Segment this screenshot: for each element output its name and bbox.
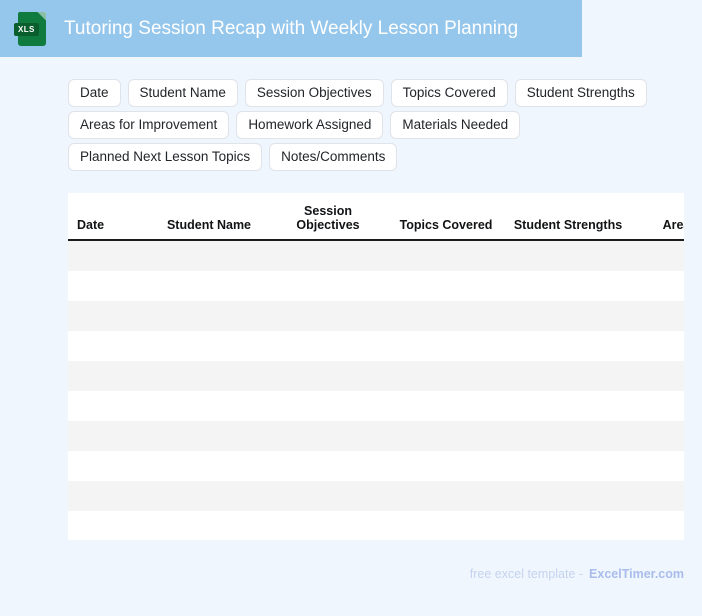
table-cell[interactable] — [68, 421, 152, 451]
table-cell[interactable] — [68, 481, 152, 511]
table-cell[interactable] — [152, 481, 266, 511]
chip-session-objectives[interactable]: Session Objectives — [245, 79, 384, 107]
chip-notes-comments[interactable]: Notes/Comments — [269, 143, 397, 171]
table-cell[interactable] — [68, 511, 152, 540]
table-column-header-topics-covered[interactable]: Topics Covered — [390, 193, 502, 240]
table-row[interactable] — [68, 240, 684, 271]
table-cell[interactable] — [152, 421, 266, 451]
table-cell[interactable] — [266, 391, 390, 421]
spreadsheet-table-container[interactable]: Date Student Name Session Objectives Top… — [68, 193, 684, 540]
table-cell[interactable] — [266, 331, 390, 361]
table-cell[interactable] — [152, 331, 266, 361]
table-row[interactable] — [68, 391, 684, 421]
table-row[interactable] — [68, 271, 684, 301]
table-cell[interactable] — [152, 511, 266, 540]
table-cell[interactable] — [502, 240, 634, 271]
table-cell[interactable] — [634, 421, 684, 451]
table-cell[interactable] — [68, 451, 152, 481]
table-header: Date Student Name Session Objectives Top… — [68, 193, 684, 240]
table-cell[interactable] — [152, 451, 266, 481]
field-chip-area: Date Student Name Session Objectives Top… — [68, 79, 684, 175]
table-cell[interactable] — [152, 240, 266, 271]
table-cell[interactable] — [266, 361, 390, 391]
chip-materials-needed[interactable]: Materials Needed — [390, 111, 520, 139]
footer-brand-link[interactable]: ExcelTimer.com — [589, 567, 684, 581]
chip-topics-covered[interactable]: Topics Covered — [391, 79, 508, 107]
table-column-header-student-name[interactable]: Student Name — [152, 193, 266, 240]
table-cell[interactable] — [390, 511, 502, 540]
table-cell[interactable] — [266, 271, 390, 301]
table-cell[interactable] — [390, 391, 502, 421]
table-cell[interactable] — [502, 481, 634, 511]
table-cell[interactable] — [152, 391, 266, 421]
table-cell[interactable] — [68, 361, 152, 391]
table-cell[interactable] — [266, 240, 390, 271]
table-cell[interactable] — [634, 511, 684, 540]
chip-student-name[interactable]: Student Name — [128, 79, 238, 107]
table-cell[interactable] — [634, 451, 684, 481]
table-cell[interactable] — [390, 301, 502, 331]
chip-row-1: Date Student Name Session Objectives Top… — [68, 79, 684, 107]
table-cell[interactable] — [502, 451, 634, 481]
table-row[interactable] — [68, 451, 684, 481]
chip-row-3: Planned Next Lesson Topics Notes/Comment… — [68, 143, 684, 171]
table-cell[interactable] — [266, 481, 390, 511]
table-column-header-session-objectives[interactable]: Session Objectives — [266, 193, 390, 240]
table-cell[interactable] — [266, 451, 390, 481]
table-cell[interactable] — [266, 511, 390, 540]
page-title: Tutoring Session Recap with Weekly Lesso… — [64, 18, 518, 40]
table-cell[interactable] — [634, 391, 684, 421]
chip-student-strengths[interactable]: Student Strengths — [515, 79, 647, 107]
chip-row-2: Areas for Improvement Homework Assigned … — [68, 111, 684, 139]
table-cell[interactable] — [502, 421, 634, 451]
table-row[interactable] — [68, 331, 684, 361]
table-cell[interactable] — [502, 511, 634, 540]
footer-attribution: free excel template -ExcelTimer.com — [470, 566, 684, 582]
table-cell[interactable] — [68, 240, 152, 271]
table-cell[interactable] — [634, 331, 684, 361]
table-cell[interactable] — [502, 331, 634, 361]
table-cell[interactable] — [390, 361, 502, 391]
table-cell[interactable] — [502, 391, 634, 421]
table-cell[interactable] — [68, 331, 152, 361]
table-row[interactable] — [68, 361, 684, 391]
chip-date[interactable]: Date — [68, 79, 121, 107]
table-header-row: Date Student Name Session Objectives Top… — [68, 193, 684, 240]
table-cell[interactable] — [502, 361, 634, 391]
table-cell[interactable] — [266, 301, 390, 331]
table-row[interactable] — [68, 481, 684, 511]
table-column-header-date[interactable]: Date — [68, 193, 152, 240]
table-cell[interactable] — [502, 301, 634, 331]
table-cell[interactable] — [152, 271, 266, 301]
table-row[interactable] — [68, 511, 684, 540]
table-cell[interactable] — [152, 361, 266, 391]
table-body — [68, 240, 684, 540]
table-cell[interactable] — [634, 301, 684, 331]
table-cell[interactable] — [634, 240, 684, 271]
table-cell[interactable] — [634, 271, 684, 301]
table-column-header-student-strengths[interactable]: Student Strengths — [502, 193, 634, 240]
table-cell[interactable] — [502, 271, 634, 301]
chip-planned-next-lesson-topics[interactable]: Planned Next Lesson Topics — [68, 143, 262, 171]
table-cell[interactable] — [68, 301, 152, 331]
table-cell[interactable] — [634, 481, 684, 511]
table-cell[interactable] — [390, 481, 502, 511]
table-row[interactable] — [68, 421, 684, 451]
table-cell[interactable] — [634, 361, 684, 391]
xls-file-icon: XLS — [18, 12, 46, 46]
app-header-bar: XLS Tutoring Session Recap with Weekly L… — [0, 0, 582, 57]
table-cell[interactable] — [266, 421, 390, 451]
table-cell[interactable] — [390, 421, 502, 451]
table-column-header-areas-for-improvement[interactable]: Areas for Improvement — [634, 193, 684, 240]
table-cell[interactable] — [390, 271, 502, 301]
table-cell[interactable] — [390, 451, 502, 481]
xls-icon-label: XLS — [14, 23, 39, 36]
chip-homework-assigned[interactable]: Homework Assigned — [236, 111, 383, 139]
chip-areas-for-improvement[interactable]: Areas for Improvement — [68, 111, 229, 139]
table-cell[interactable] — [68, 271, 152, 301]
table-cell[interactable] — [390, 331, 502, 361]
table-cell[interactable] — [390, 240, 502, 271]
spreadsheet-table: Date Student Name Session Objectives Top… — [68, 193, 684, 540]
table-row[interactable] — [68, 301, 684, 331]
table-cell[interactable] — [152, 301, 266, 331]
table-cell[interactable] — [68, 391, 152, 421]
footer-lead-text: free excel template - — [470, 567, 583, 581]
